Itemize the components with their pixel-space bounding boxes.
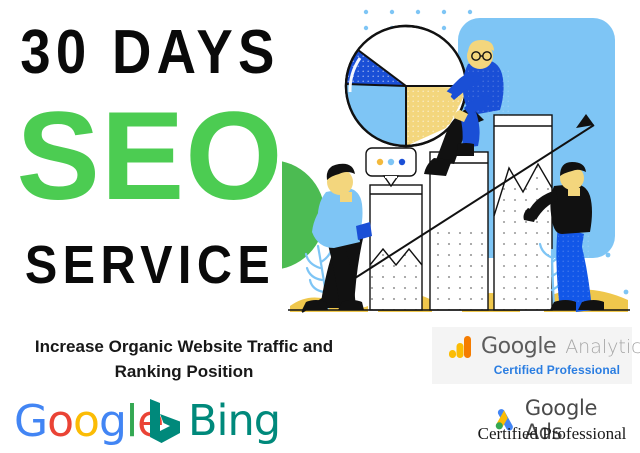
bar-3 [494,115,552,310]
speech-bubble [366,148,416,186]
poster-canvas: 30 DAYS SEO SERVICE Increase Organic Web… [0,0,640,453]
bar-1 [370,185,422,310]
headline-service: SERVICE [15,238,285,292]
google-letter-o2: o [73,396,99,447]
seo-illustration [282,0,640,322]
google-letter-l: l [126,396,137,447]
google-letter-o1: o [47,396,73,447]
ads-certification-label: Certified Professional [468,424,636,444]
illustration-svg [282,0,640,322]
google-analytics-icon [448,335,472,359]
ga-brand-label: Google [481,335,556,359]
ga-certification-label: Certified Professional [494,363,620,377]
bar-2 [430,152,488,310]
bing-mark-icon [148,398,182,444]
bing-wordmark: Bing [188,399,280,443]
google-letter-g2: g [99,396,126,447]
ga-product-label: Analytics [565,335,640,359]
google-logo: Google [14,400,163,444]
google-analytics-badge: Google Analytics Certified Professional [432,327,632,384]
google-ads-badge: Google Ads Certified Professional [468,394,636,450]
headline-seo: SEO [0,94,300,219]
ga-brand-row: Google Analytics [448,335,640,359]
headline-30-days: 30 DAYS [18,22,282,84]
subtitle-text: Increase Organic Website Traffic and Ran… [8,334,360,384]
google-letter-g1: G [14,396,47,447]
bing-logo: Bing [148,398,280,444]
